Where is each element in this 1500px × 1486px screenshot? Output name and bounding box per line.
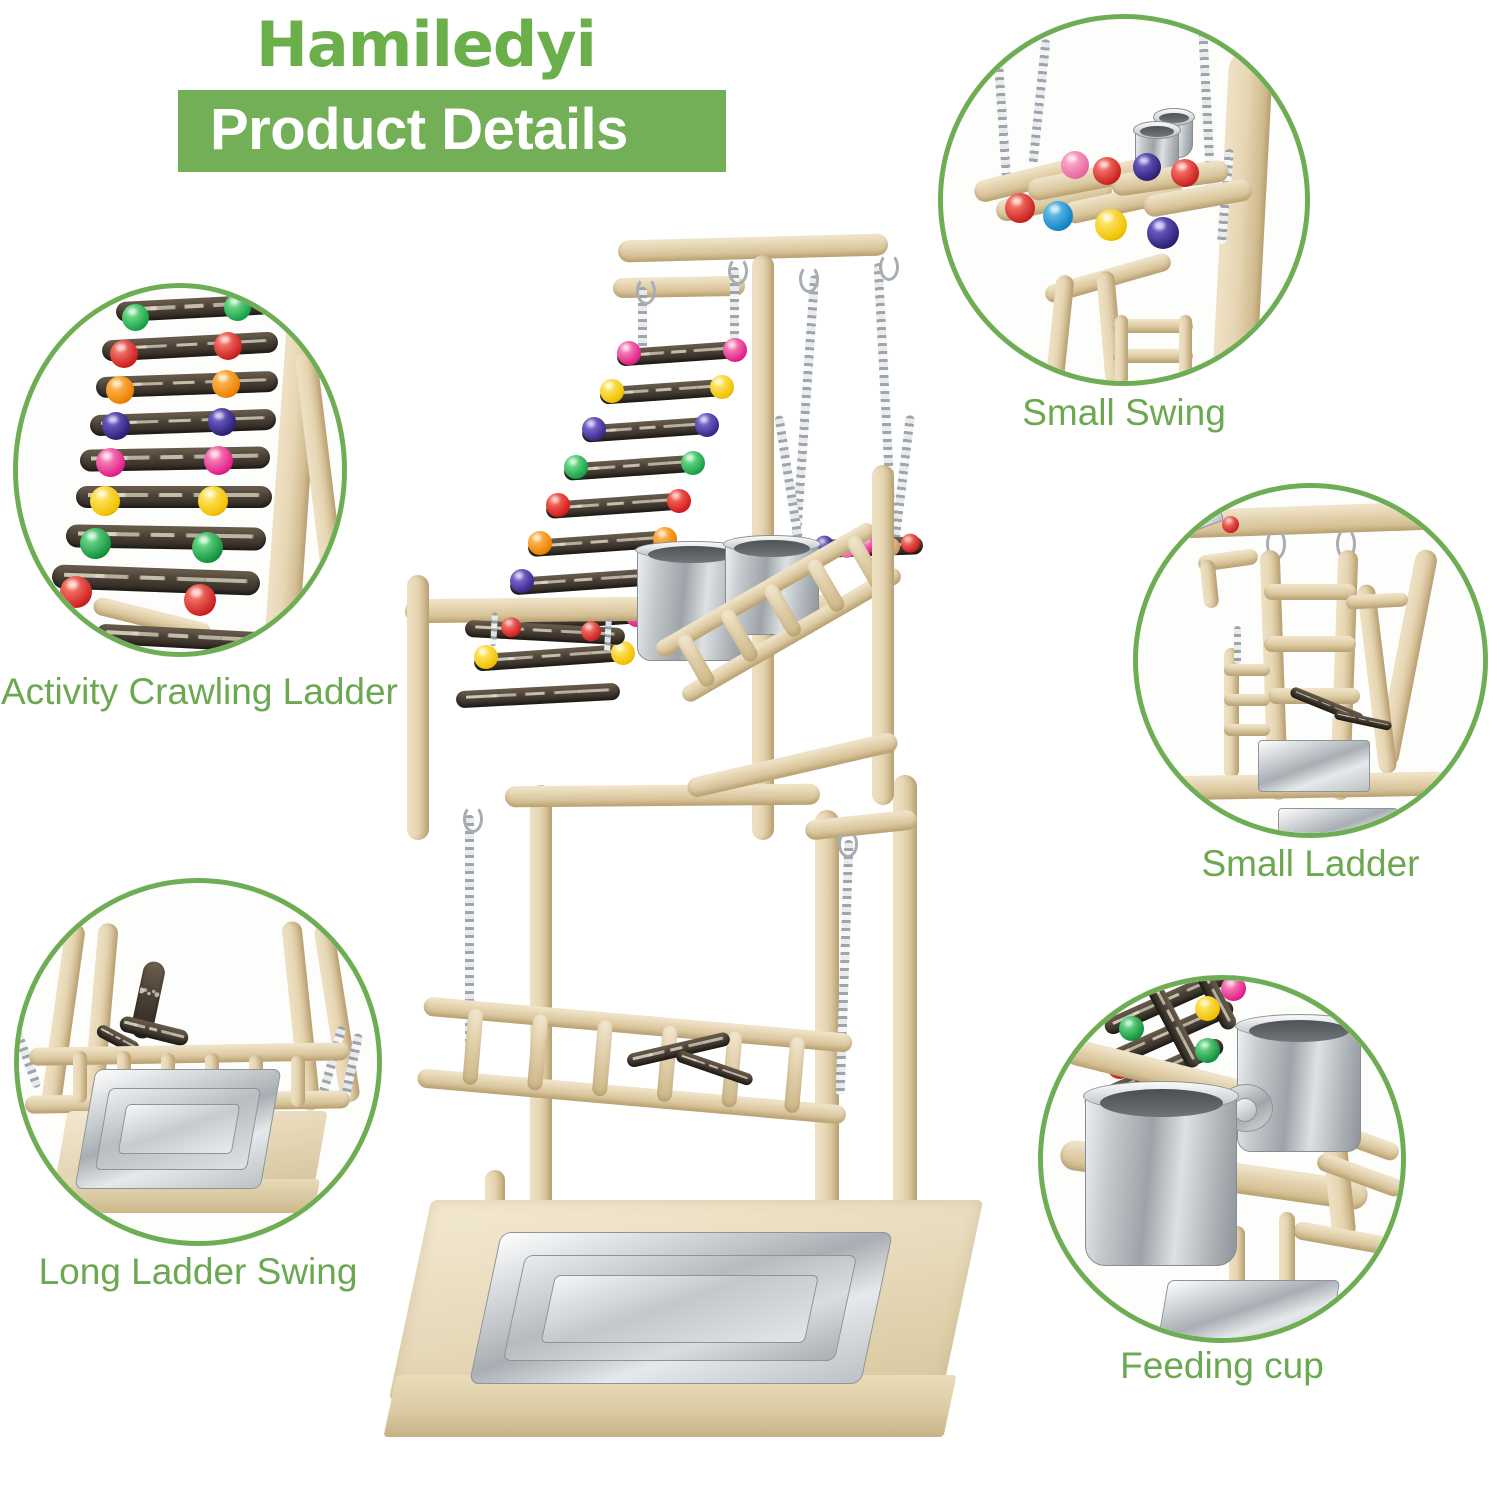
upper-left-beam <box>613 276 745 298</box>
callout-photo-small-ladder <box>1138 488 1483 833</box>
cup-inner-back <box>734 540 809 557</box>
base-front-rim <box>383 1375 956 1437</box>
swing-hook-right <box>879 253 899 281</box>
title-banner: Product Details <box>178 90 726 172</box>
ladder-hook-right <box>728 257 748 285</box>
infographic-canvas: Hamiledyi Product Details <box>0 0 1500 1486</box>
callout-ring-long-ladder-swing <box>14 878 382 1246</box>
callout-photo-long-ladder-swing <box>19 883 377 1241</box>
callout-ring-small-swing <box>938 14 1310 386</box>
callout-label-small-swing: Small Swing <box>938 392 1310 434</box>
callout-label-small-ladder: Small Ladder <box>1133 843 1488 885</box>
callout-activity-crawling-ladder: Activity Crawling Ladder <box>13 283 347 657</box>
callout-ring-feeding-cup <box>1038 975 1406 1343</box>
long-swing-hook-right <box>838 830 858 858</box>
tray-inner-2 <box>541 1275 819 1343</box>
callout-label-feeding-cup: Feeding cup <box>1038 1345 1406 1387</box>
mid-beam-front <box>505 784 820 808</box>
callout-ring-small-ladder <box>1133 483 1488 838</box>
base-frame <box>390 1200 980 1475</box>
callout-label-crawling-ladder: Activity Crawling Ladder <box>1 671 361 713</box>
feeding-cup-front-detail <box>1085 1092 1237 1266</box>
ladder-hook-left <box>636 277 656 305</box>
long-swing-hook-left <box>463 805 483 833</box>
platform-left-post <box>407 575 429 840</box>
callout-photo-feeding-cup <box>1043 980 1401 1338</box>
callout-long-ladder-swing: Long Ladder Swing <box>14 878 382 1246</box>
callout-feeding-cup: Feeding cup <box>1038 975 1406 1343</box>
swing-hook-left <box>799 265 819 293</box>
callout-label-long-ladder-swing: Long Ladder Swing <box>14 1251 382 1293</box>
top-beam <box>618 233 888 262</box>
brand-title: Hamiledyi <box>256 6 856 84</box>
long-ladder-swing <box>415 996 853 1143</box>
steel-pullout-tray <box>469 1232 893 1384</box>
cup-inner-front <box>648 546 737 563</box>
main-product-image <box>385 215 1005 1480</box>
callout-small-ladder: Small Ladder <box>1133 483 1488 838</box>
callout-photo-small-swing <box>943 19 1305 381</box>
banner-title-text: Product Details <box>210 90 726 172</box>
callout-small-swing: Small Swing <box>938 14 1310 386</box>
callout-photo-crawling-ladder <box>18 288 342 652</box>
callout-ring-crawling-ladder <box>13 283 347 657</box>
